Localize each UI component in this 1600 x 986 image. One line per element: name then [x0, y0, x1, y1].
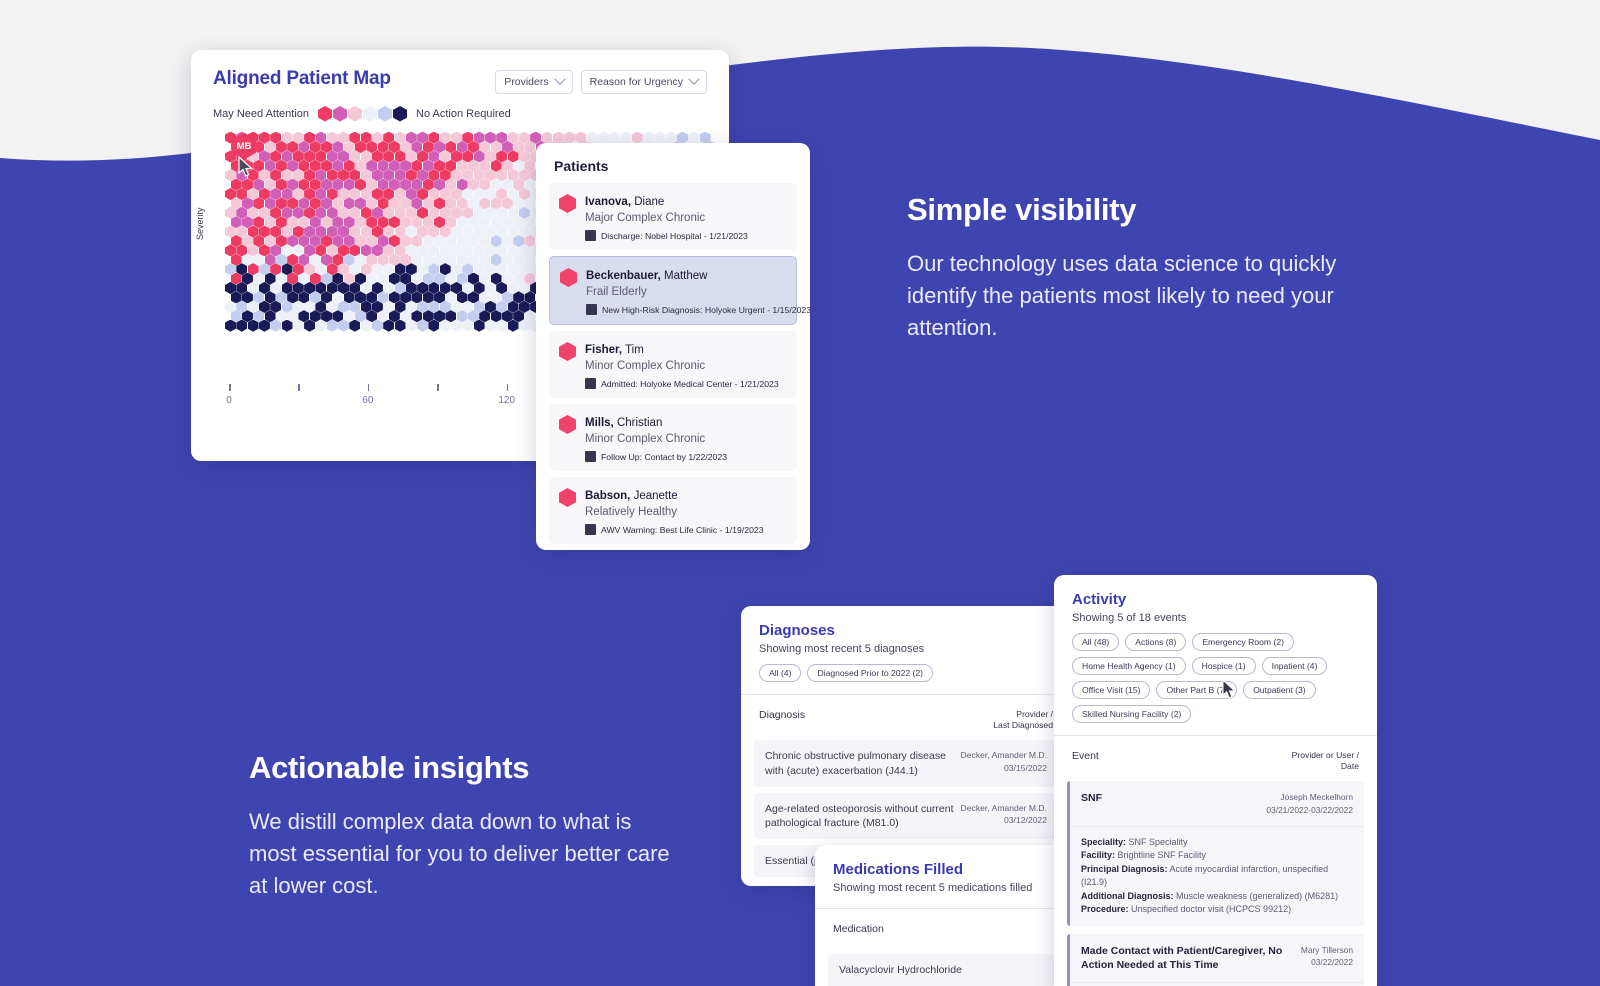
hex-bin[interactable] [287, 141, 298, 153]
hex-bin[interactable] [310, 291, 321, 303]
hex-bin[interactable] [378, 197, 389, 209]
hex-bin[interactable] [321, 216, 332, 228]
hex-bin[interactable] [304, 207, 315, 219]
hex-bin[interactable] [491, 273, 502, 285]
hex-bin[interactable] [434, 160, 445, 172]
hex-bin[interactable] [406, 169, 417, 181]
hex-bin[interactable] [474, 301, 485, 313]
hex-bin[interactable] [344, 273, 355, 285]
hex-bin[interactable] [361, 301, 372, 313]
hex-bin[interactable] [508, 132, 519, 144]
hex-bin[interactable] [508, 188, 519, 200]
hex-bin[interactable] [468, 197, 479, 209]
hex-bin[interactable] [349, 301, 360, 313]
hex-bin[interactable] [298, 254, 309, 266]
hex-bin[interactable] [349, 188, 360, 200]
activity-filter-chip[interactable]: Emergency Room (2) [1192, 633, 1294, 651]
hex-bin[interactable] [355, 179, 366, 191]
hex-bin[interactable] [378, 160, 389, 172]
hex-bin[interactable] [327, 320, 338, 332]
hex-bin[interactable] [372, 207, 383, 219]
hex-bin[interactable] [338, 320, 349, 332]
hex-bin[interactable] [445, 273, 456, 285]
hex-bin[interactable] [259, 263, 270, 275]
hex-bin[interactable] [434, 273, 445, 285]
hex-bin[interactable] [389, 141, 400, 153]
hex-bin[interactable] [355, 160, 366, 172]
hex-bin[interactable] [479, 141, 490, 153]
hex-bin[interactable] [236, 188, 247, 200]
hex-bin[interactable] [428, 301, 439, 313]
hex-bin[interactable] [231, 216, 242, 228]
hex-bin[interactable] [231, 179, 242, 191]
hex-bin[interactable] [298, 160, 309, 172]
hex-bin[interactable] [502, 310, 513, 322]
hex-bin[interactable] [338, 188, 349, 200]
hex-bin[interactable] [395, 169, 406, 181]
hex-bin[interactable] [513, 216, 524, 228]
hex-bin[interactable] [462, 169, 473, 181]
hex-bin[interactable] [513, 235, 524, 247]
hex-bin[interactable] [276, 197, 287, 209]
hex-bin[interactable] [355, 310, 366, 322]
hex-bin[interactable] [310, 273, 321, 285]
hex-bin[interactable] [508, 263, 519, 275]
hex-bin[interactable] [411, 310, 422, 322]
hex-bin[interactable] [242, 310, 253, 322]
hex-bin[interactable] [462, 263, 473, 275]
hex-bin[interactable] [315, 169, 326, 181]
hex-bin[interactable] [332, 310, 343, 322]
hex-bin[interactable] [304, 132, 315, 144]
hex-bin[interactable] [298, 141, 309, 153]
hex-bin[interactable] [468, 179, 479, 191]
hex-bin[interactable] [389, 197, 400, 209]
hex-bin[interactable] [462, 150, 473, 162]
hex-bin[interactable] [366, 273, 377, 285]
hex-bin[interactable] [253, 310, 264, 322]
hex-bin[interactable] [423, 160, 434, 172]
hex-bin[interactable] [519, 226, 530, 238]
hex-bin[interactable] [293, 244, 304, 256]
hex-bin[interactable] [417, 188, 428, 200]
hex-bin[interactable] [457, 235, 468, 247]
patient-list-item[interactable]: Mills, ChristianMinor Complex ChronicFol… [549, 404, 797, 471]
hex-bin[interactable] [242, 197, 253, 209]
hex-bin[interactable] [434, 291, 445, 303]
hex-bin[interactable] [474, 150, 485, 162]
hex-bin[interactable] [524, 291, 535, 303]
hex-bin[interactable] [395, 301, 406, 313]
hex-bin[interactable] [496, 188, 507, 200]
hex-bin[interactable] [428, 320, 439, 332]
hex-bin[interactable] [248, 188, 259, 200]
hex-bin[interactable] [395, 150, 406, 162]
hex-bin[interactable] [315, 226, 326, 238]
hex-bin[interactable] [474, 282, 485, 294]
hex-bin[interactable] [327, 132, 338, 144]
hex-bin[interactable] [315, 132, 326, 144]
hex-bin[interactable] [440, 226, 451, 238]
hex-bin[interactable] [282, 132, 293, 144]
hex-bin[interactable] [457, 273, 468, 285]
hex-bin[interactable] [383, 169, 394, 181]
hex-bin[interactable] [434, 197, 445, 209]
hex-bin[interactable] [349, 320, 360, 332]
hex-bin[interactable] [496, 263, 507, 275]
hex-bin[interactable] [428, 244, 439, 256]
hex-bin[interactable] [225, 226, 236, 238]
hex-bin[interactable] [423, 273, 434, 285]
hex-bin[interactable] [406, 188, 417, 200]
hex-bin[interactable] [479, 291, 490, 303]
hex-bin[interactable] [265, 235, 276, 247]
hex-bin[interactable] [654, 132, 665, 144]
hex-bin[interactable] [474, 226, 485, 238]
patient-list-item[interactable]: Beckenbauer, MatthewFrail ElderlyNew Hig… [549, 256, 797, 325]
hex-bin[interactable] [666, 132, 677, 144]
hex-bin[interactable] [231, 197, 242, 209]
hex-bin[interactable] [298, 235, 309, 247]
hex-bin[interactable] [502, 235, 513, 247]
hex-bin[interactable] [236, 320, 247, 332]
hex-bin[interactable] [242, 254, 253, 266]
hex-bin[interactable] [315, 207, 326, 219]
hex-bin[interactable] [383, 263, 394, 275]
hex-bin[interactable] [440, 244, 451, 256]
hex-bin[interactable] [231, 273, 242, 285]
hex-bin[interactable] [508, 207, 519, 219]
hex-bin[interactable] [225, 188, 236, 200]
hex-bin[interactable] [304, 169, 315, 181]
hex-bin[interactable] [485, 132, 496, 144]
hex-bin[interactable] [372, 320, 383, 332]
hex-bin[interactable] [406, 320, 417, 332]
hex-bin[interactable] [485, 320, 496, 332]
hex-bin[interactable] [508, 226, 519, 238]
diagnosis-row[interactable]: Age-related osteoporosis without current… [754, 793, 1058, 839]
hex-bin[interactable] [366, 141, 377, 153]
hex-bin[interactable] [462, 132, 473, 144]
hex-bin[interactable] [242, 273, 253, 285]
hex-bin[interactable] [417, 320, 428, 332]
hex-bin[interactable] [485, 169, 496, 181]
activity-filter-chip[interactable]: Inpatient (4) [1262, 657, 1328, 675]
hex-bin[interactable] [315, 263, 326, 275]
hex-bin[interactable] [479, 160, 490, 172]
hex-bin[interactable] [338, 282, 349, 294]
hex-bin[interactable] [406, 244, 417, 256]
hex-bin[interactable] [276, 254, 287, 266]
hex-bin[interactable] [440, 188, 451, 200]
hex-bin[interactable] [287, 235, 298, 247]
hex-bin[interactable] [293, 282, 304, 294]
hex-bin[interactable] [265, 273, 276, 285]
hex-bin[interactable] [417, 301, 428, 313]
hex-bin[interactable] [400, 216, 411, 228]
hex-bin[interactable] [406, 226, 417, 238]
hex-bin[interactable] [282, 207, 293, 219]
hex-bin[interactable] [406, 150, 417, 162]
hex-bin[interactable] [423, 216, 434, 228]
hex-bin[interactable] [366, 254, 377, 266]
hex-bin[interactable] [508, 301, 519, 313]
hex-bin[interactable] [349, 282, 360, 294]
hex-bin[interactable] [440, 207, 451, 219]
hex-bin[interactable] [361, 282, 372, 294]
hex-bin[interactable] [457, 179, 468, 191]
hex-bin[interactable] [440, 169, 451, 181]
hex-bin[interactable] [502, 254, 513, 266]
hex-bin[interactable] [236, 207, 247, 219]
hex-bin[interactable] [417, 244, 428, 256]
hex-bin[interactable] [231, 254, 242, 266]
hex-bin[interactable] [338, 244, 349, 256]
hex-bin[interactable] [457, 216, 468, 228]
hex-bin[interactable] [293, 132, 304, 144]
hex-bin[interactable] [457, 310, 468, 322]
hex-bin[interactable] [395, 282, 406, 294]
hex-bin[interactable] [298, 179, 309, 191]
hex-bin[interactable] [259, 244, 270, 256]
hex-bin[interactable] [400, 273, 411, 285]
hex-bin[interactable] [231, 310, 242, 322]
hex-bin[interactable] [349, 169, 360, 181]
hex-bin[interactable] [276, 291, 287, 303]
hex-bin[interactable] [304, 244, 315, 256]
hex-bin[interactable] [344, 160, 355, 172]
hex-bin[interactable] [349, 132, 360, 144]
hex-bin[interactable] [389, 216, 400, 228]
hex-bin[interactable] [378, 291, 389, 303]
hex-bin[interactable] [451, 169, 462, 181]
hex-bin[interactable] [355, 197, 366, 209]
hex-bin[interactable] [378, 216, 389, 228]
hex-bin[interactable] [445, 310, 456, 322]
hex-bin[interactable] [417, 169, 428, 181]
hex-bin[interactable] [502, 141, 513, 153]
hex-bin[interactable] [298, 216, 309, 228]
hex-bin[interactable] [315, 188, 326, 200]
hex-bin[interactable] [524, 197, 535, 209]
hex-bin[interactable] [259, 207, 270, 219]
hex-bin[interactable] [225, 301, 236, 313]
hex-bin[interactable] [400, 160, 411, 172]
hex-bin[interactable] [253, 273, 264, 285]
hex-bin[interactable] [270, 132, 281, 144]
hex-bin[interactable] [395, 207, 406, 219]
hex-bin[interactable] [406, 132, 417, 144]
hex-bin[interactable] [451, 301, 462, 313]
hex-bin[interactable] [327, 150, 338, 162]
hex-bin[interactable] [411, 160, 422, 172]
activity-filter-chip[interactable]: Actions (8) [1125, 633, 1186, 651]
hex-bin[interactable] [457, 160, 468, 172]
hex-bin[interactable] [332, 273, 343, 285]
hex-bin[interactable] [428, 226, 439, 238]
hex-bin[interactable] [423, 291, 434, 303]
hex-bin[interactable] [332, 179, 343, 191]
hex-bin[interactable] [406, 282, 417, 294]
hex-bin[interactable] [327, 282, 338, 294]
hex-bin[interactable] [344, 179, 355, 191]
hex-bin[interactable] [304, 282, 315, 294]
hex-bin[interactable] [361, 244, 372, 256]
hex-bin[interactable] [462, 207, 473, 219]
hex-bin[interactable] [253, 179, 264, 191]
hex-bin[interactable] [411, 291, 422, 303]
hex-bin[interactable] [315, 150, 326, 162]
hex-bin[interactable] [327, 244, 338, 256]
hex-bin[interactable] [519, 244, 530, 256]
hex-bin[interactable] [423, 197, 434, 209]
hex-bin[interactable] [677, 132, 688, 144]
hex-bin[interactable] [474, 188, 485, 200]
hex-bin[interactable] [355, 216, 366, 228]
hex-bin[interactable] [485, 226, 496, 238]
hex-bin[interactable] [530, 132, 541, 144]
hex-bin[interactable] [440, 320, 451, 332]
hex-bin[interactable] [423, 141, 434, 153]
hex-bin[interactable] [575, 132, 586, 144]
hex-bin[interactable] [298, 291, 309, 303]
hex-bin[interactable] [434, 216, 445, 228]
hex-bin[interactable] [270, 320, 281, 332]
hex-bin[interactable] [519, 150, 530, 162]
hex-bin[interactable] [276, 273, 287, 285]
hex-bin[interactable] [236, 301, 247, 313]
hex-bin[interactable] [282, 188, 293, 200]
hex-bin[interactable] [248, 301, 259, 313]
hex-bin[interactable] [502, 273, 513, 285]
hex-bin[interactable] [270, 207, 281, 219]
hex-bin[interactable] [282, 169, 293, 181]
hex-bin[interactable] [332, 216, 343, 228]
hex-bin[interactable] [417, 226, 428, 238]
hex-bin[interactable] [304, 301, 315, 313]
hex-bin[interactable] [389, 254, 400, 266]
hex-bin[interactable] [349, 244, 360, 256]
hex-bin[interactable] [372, 188, 383, 200]
hex-bin[interactable] [366, 235, 377, 247]
hex-bin[interactable] [338, 263, 349, 275]
hex-bin[interactable] [338, 169, 349, 181]
hex-bin[interactable] [321, 310, 332, 322]
hex-bin[interactable] [491, 235, 502, 247]
hex-bin[interactable] [332, 254, 343, 266]
activity-filter-chip[interactable]: Home Health Agency (1) [1072, 657, 1186, 675]
hex-bin[interactable] [355, 141, 366, 153]
hex-bin[interactable] [349, 263, 360, 275]
hex-bin[interactable] [287, 254, 298, 266]
hex-bin[interactable] [411, 273, 422, 285]
hex-bin[interactable] [378, 141, 389, 153]
hex-bin[interactable] [293, 320, 304, 332]
hex-bin[interactable] [265, 216, 276, 228]
hex-bin[interactable] [457, 291, 468, 303]
hex-bin[interactable] [519, 282, 530, 294]
hex-bin[interactable] [265, 160, 276, 172]
hex-bin[interactable] [400, 310, 411, 322]
hex-bin[interactable] [321, 273, 332, 285]
hex-bin[interactable] [270, 244, 281, 256]
hex-bin[interactable] [242, 216, 253, 228]
hex-bin[interactable] [513, 310, 524, 322]
diagnoses-filter-chip[interactable]: Diagnosed Prior to 2022 (2) [807, 664, 933, 682]
hex-bin[interactable] [287, 273, 298, 285]
hex-bin[interactable] [355, 273, 366, 285]
hex-bin[interactable] [496, 301, 507, 313]
hex-bin[interactable] [332, 141, 343, 153]
hex-bin[interactable] [298, 310, 309, 322]
hex-bin[interactable] [491, 254, 502, 266]
hex-bin[interactable] [462, 244, 473, 256]
hex-bin[interactable] [265, 197, 276, 209]
hex-bin[interactable] [276, 235, 287, 247]
hex-bin[interactable] [423, 254, 434, 266]
hex-bin[interactable] [282, 150, 293, 162]
hex-bin[interactable] [225, 244, 236, 256]
hex-bin[interactable] [344, 291, 355, 303]
diagnosis-row[interactable]: Chronic obstructive pulmonary disease wi… [754, 740, 1058, 786]
hex-bin[interactable] [225, 320, 236, 332]
hex-bin[interactable] [524, 216, 535, 228]
hex-bin[interactable] [270, 263, 281, 275]
hex-bin[interactable] [445, 216, 456, 228]
hex-bin[interactable] [293, 207, 304, 219]
hex-bin[interactable] [564, 132, 575, 144]
hex-bin[interactable] [496, 132, 507, 144]
hex-bin[interactable] [513, 160, 524, 172]
hex-bin[interactable] [265, 254, 276, 266]
hex-bin[interactable] [502, 179, 513, 191]
hex-bin[interactable] [411, 179, 422, 191]
hex-bin[interactable] [508, 282, 519, 294]
hex-bin[interactable] [519, 207, 530, 219]
hex-bin[interactable] [225, 263, 236, 275]
hex-bin[interactable] [378, 254, 389, 266]
hex-bin[interactable] [445, 197, 456, 209]
hex-bin[interactable] [462, 282, 473, 294]
hex-bin[interactable] [276, 310, 287, 322]
hex-bin[interactable] [468, 291, 479, 303]
hex-bin[interactable] [400, 179, 411, 191]
hex-bin[interactable] [366, 197, 377, 209]
hex-bin[interactable] [282, 226, 293, 238]
hex-bin[interactable] [508, 244, 519, 256]
hex-bin[interactable] [491, 291, 502, 303]
hex-bin[interactable] [259, 301, 270, 313]
hex-bin[interactable] [236, 226, 247, 238]
hex-bin[interactable] [225, 169, 236, 181]
hex-bin[interactable] [457, 254, 468, 266]
hex-bin[interactable] [434, 235, 445, 247]
hex-bin[interactable] [378, 179, 389, 191]
hex-bin[interactable] [462, 301, 473, 313]
hex-bin[interactable] [361, 320, 372, 332]
hex-bin[interactable] [479, 273, 490, 285]
hex-bin[interactable] [310, 235, 321, 247]
hex-bin[interactable] [462, 188, 473, 200]
hex-bin[interactable] [372, 244, 383, 256]
hex-bin[interactable] [643, 132, 654, 144]
hex-bin[interactable] [327, 226, 338, 238]
hex-bin[interactable] [236, 282, 247, 294]
hex-bin[interactable] [502, 216, 513, 228]
hex-bin[interactable] [327, 263, 338, 275]
hex-bin[interactable] [445, 235, 456, 247]
hex-bin[interactable] [519, 301, 530, 313]
